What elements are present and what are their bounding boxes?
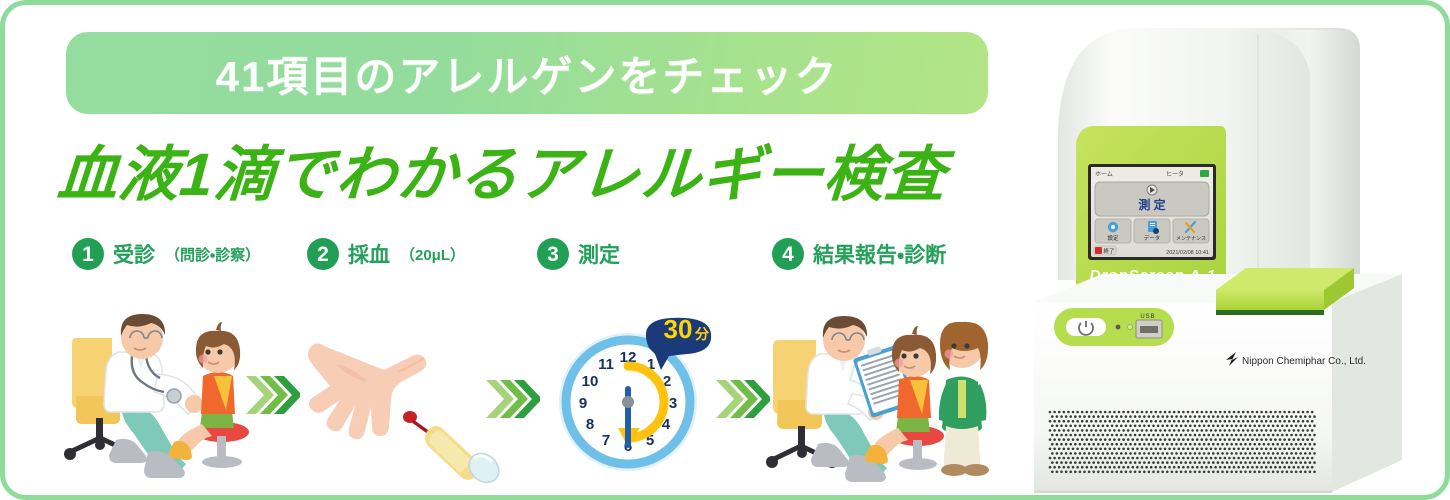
step-2-number: 2: [307, 238, 339, 270]
screen-measure-button[interactable]: 測 定: [1095, 182, 1209, 216]
usb-port-label: USB: [1140, 314, 1155, 320]
device-touchscreen[interactable]: ホーム ヒータ 測 定 設定: [1088, 164, 1216, 260]
step-3-number: 3: [537, 238, 569, 270]
dropscreen-a1-device: ホーム ヒータ 測 定 設定: [1010, 8, 1450, 500]
screen-data-button[interactable]: データ: [1134, 219, 1170, 243]
page-title: 血液1滴でわかるアレルギー検査: [58, 128, 1008, 210]
device-control-strip: USB: [1054, 308, 1174, 346]
screen-settings-button[interactable]: 設定: [1095, 219, 1131, 243]
screen-maintenance-label: メンテナンス: [1176, 236, 1206, 242]
allergen-count-banner: 41項目のアレルゲンをチェック: [66, 32, 988, 114]
doctor-reporting-results-illustration: [766, 284, 1006, 484]
step-3: 3 測定: [537, 232, 630, 276]
exit-icon: [1095, 247, 1102, 254]
duration-badge-unit: 分: [694, 326, 710, 342]
svg-text:10: 10: [582, 373, 599, 390]
screen-data-label: データ: [1144, 234, 1161, 242]
step-2: 2 採血 （20μL）: [307, 232, 465, 276]
step-2-sublabel: （20μL）: [400, 244, 465, 265]
screen-timestamp: 2021/02/08 10:41: [1166, 250, 1209, 256]
headline-text: 血液1滴でわかるアレルギー検査: [55, 126, 949, 213]
screen-measure-button-label: 測 定: [1138, 197, 1165, 212]
step-4-number: 4: [772, 238, 804, 270]
step-1: 1 受診 （問診・診察）: [72, 232, 260, 276]
step-1-number: 1: [72, 238, 104, 270]
svg-text:9: 9: [579, 395, 587, 412]
svg-text:7: 7: [602, 432, 610, 449]
svg-text:3: 3: [669, 395, 677, 412]
duration-badge-number: 30: [664, 316, 693, 344]
screen-settings-label: 設定: [1107, 234, 1119, 242]
status-led-2: [1128, 325, 1133, 330]
status-led-1: [1116, 325, 1121, 330]
step-4: 4 結果報告・診断: [772, 232, 956, 276]
svg-text:11: 11: [598, 356, 614, 373]
step-1-sublabel: （問診・診察）: [165, 244, 260, 265]
allergen-count-text: 41項目のアレルゲンをチェック: [216, 43, 839, 104]
steps-row: 1 受診 （問診・診察） 2 採血 （20μL） 3 測定 4 結果報告・診断: [72, 232, 1012, 276]
allergy-test-promo-banner: 41項目のアレルゲンをチェック 血液1滴でわかるアレルギー検査 1 受診 （問診…: [0, 0, 1450, 500]
step-3-label: 測定: [578, 239, 620, 269]
device-right-side: [1332, 274, 1402, 492]
screen-status-heater-label: ヒータ: [1166, 170, 1184, 178]
step-1-label: 受診: [113, 239, 155, 269]
step-2-label: 採血: [348, 239, 390, 269]
device-manufacturer-name: Nippon Chemiphar Co., Ltd.: [1242, 356, 1366, 367]
clock-center-pin: [622, 396, 634, 408]
clock-illustration: 12 1 2 3 4 5 6 7 8 9 10 11 30 分: [554, 316, 714, 476]
svg-text:8: 8: [586, 416, 594, 433]
screen-maintenance-button[interactable]: メンテナンス: [1173, 219, 1209, 243]
chevron-arrow-3-icon: [714, 376, 770, 422]
chevron-arrow-2-icon: [484, 376, 540, 422]
screen-exit-button[interactable]: 終了: [1094, 246, 1116, 255]
screen-status-home-label: ホーム: [1095, 171, 1113, 178]
hand-lancet-blood-collection-illustration: [306, 334, 511, 484]
screen-exit-label: 終了: [1103, 247, 1114, 255]
chevron-arrow-1-icon: [244, 372, 300, 418]
step-4-label: 結果報告・診断: [813, 239, 946, 269]
heater-status-indicator: [1200, 170, 1209, 177]
